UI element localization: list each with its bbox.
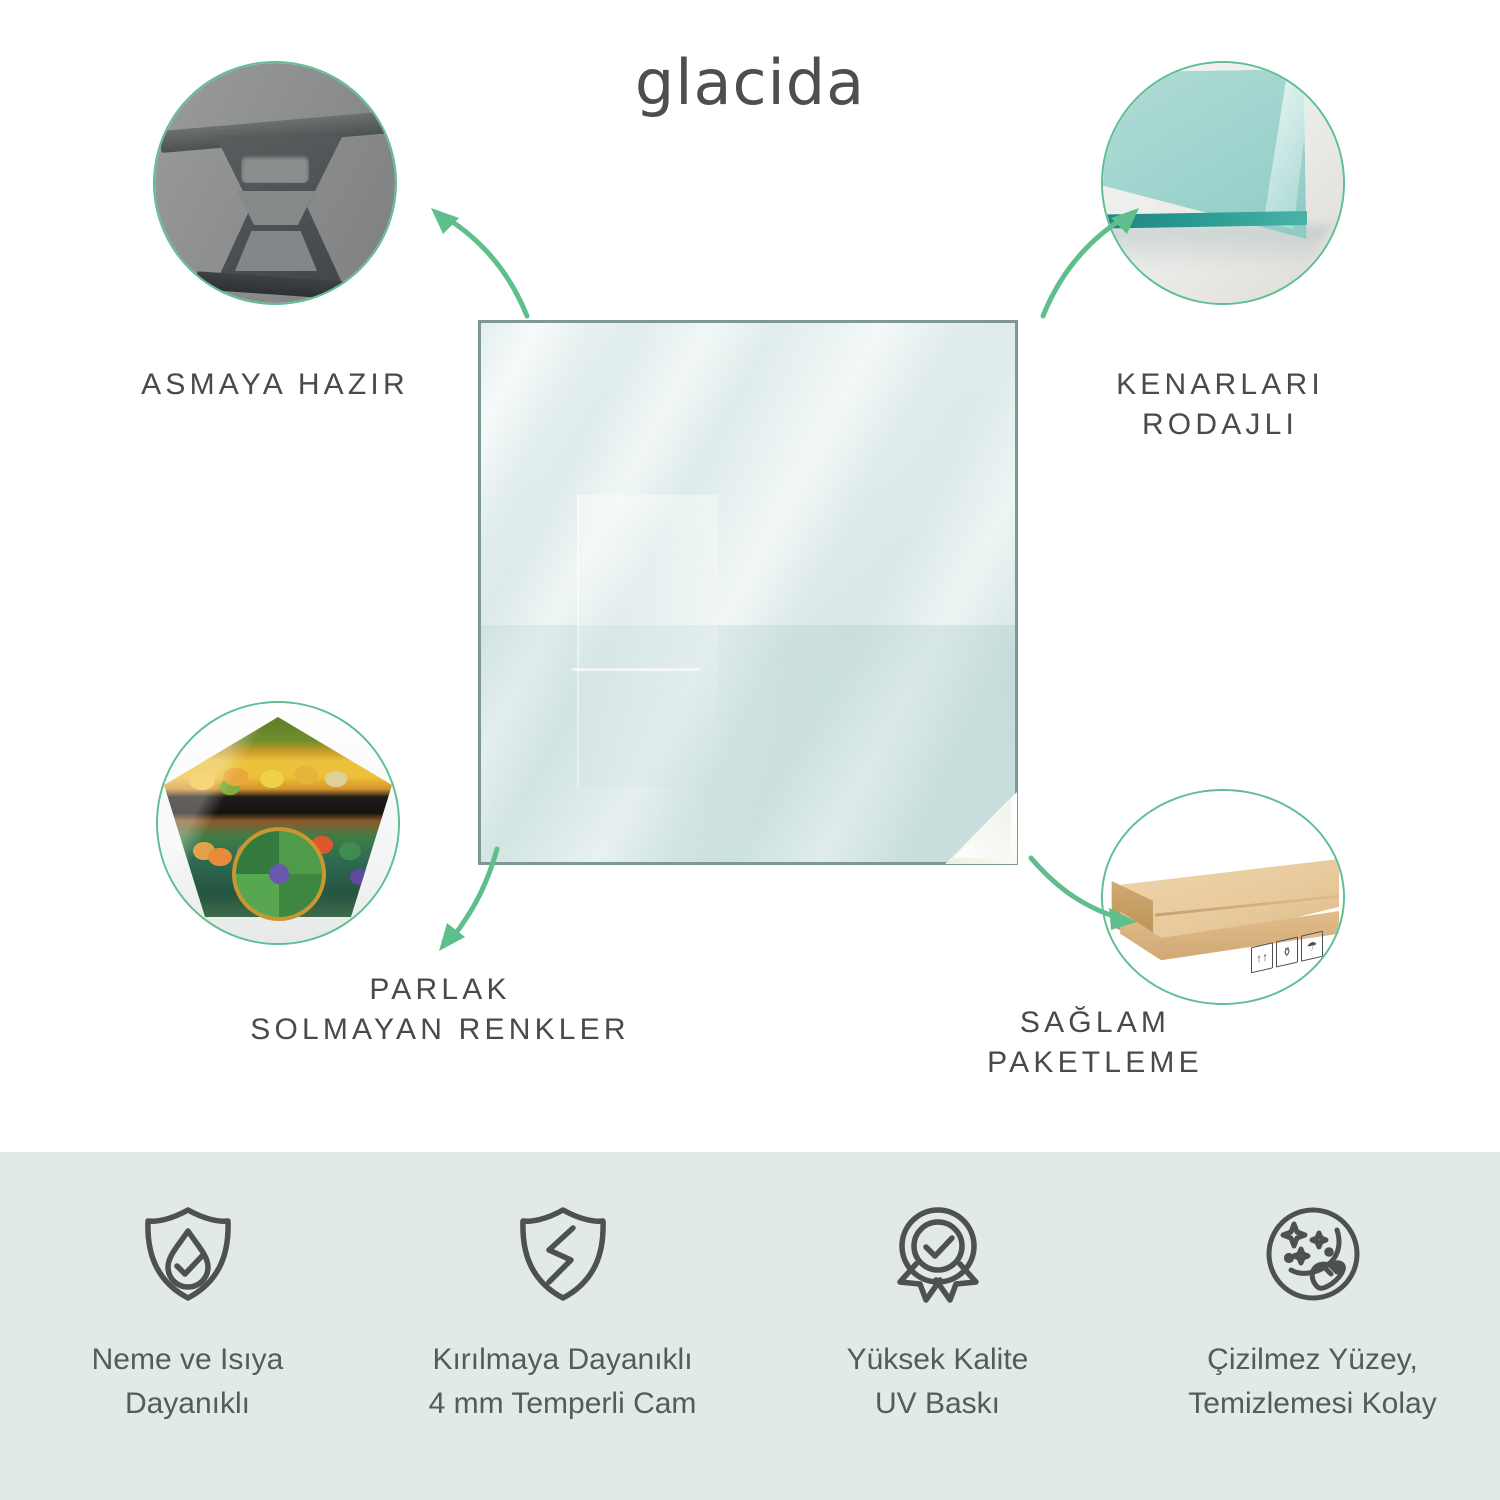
feature-moisture-heat: Neme ve Isıya Dayanıklı [0,1152,375,1425]
curved-arrow-up-right-icon [1015,190,1155,320]
shield-bolt-icon [509,1200,617,1308]
feature-label-moisture-heat: Neme ve Isıya Dayanıklı [92,1338,284,1425]
glass-reflection-band [481,625,1015,862]
stained-glass-print-photo [158,703,398,943]
feature-label-scratch-free: Çizilmez Yüzey, Temizlemesi Kolay [1188,1338,1436,1425]
package-mark-fragile: ⚱ [1276,936,1298,967]
callout-label-parlak-solmayan-renkler: PARLAK SOLMAYAN RENKLER [195,970,685,1049]
protective-film-peel-corner [945,792,1017,864]
callout-image-parlak-solmayan-renkler [158,703,398,943]
award-medal-check-icon [884,1200,992,1308]
product-glass-panel [478,320,1018,865]
feature-label-high-quality-print: Yüksek Kalite UV Baskı [847,1338,1029,1425]
shield-water-drop-check-icon [134,1200,242,1308]
feature-break-resistant: Kırılmaya Dayanıklı 4 mm Temperli Cam [375,1152,750,1425]
curved-arrow-up-left-icon [415,190,555,320]
feature-bar: Neme ve Isıya Dayanıklı Kırılmaya Dayanı… [0,1152,1500,1500]
callout-label-saglam-paketleme: SAĞLAM PAKETLEME [935,1003,1255,1082]
callout-label-kenarlari-rodajli: KENARLARI RODAJLI [1020,365,1420,444]
curved-arrow-down-right-icon [1015,840,1155,960]
package-mark-keep-dry: ☂ [1301,931,1323,962]
package-mark-this-side-up: ↑↑ [1251,942,1273,973]
feature-scratch-free: Çizilmez Yüzey, Temizlemesi Kolay [1125,1152,1500,1425]
curved-arrow-down-left-icon [425,845,555,965]
glass-window-sill-reflection [572,668,700,671]
hanging-bracket-photo [155,63,395,303]
callout-image-asmaya-hazir [155,63,395,303]
sparkle-hand-wipe-icon [1259,1200,1367,1308]
feature-label-break-resistant: Kırılmaya Dayanıklı 4 mm Temperli Cam [429,1338,697,1425]
feature-high-quality-print: Yüksek Kalite UV Baskı [750,1152,1125,1425]
callout-label-asmaya-hazir: ASMAYA HAZIR [75,365,475,405]
glass-window-reflection [577,495,718,786]
